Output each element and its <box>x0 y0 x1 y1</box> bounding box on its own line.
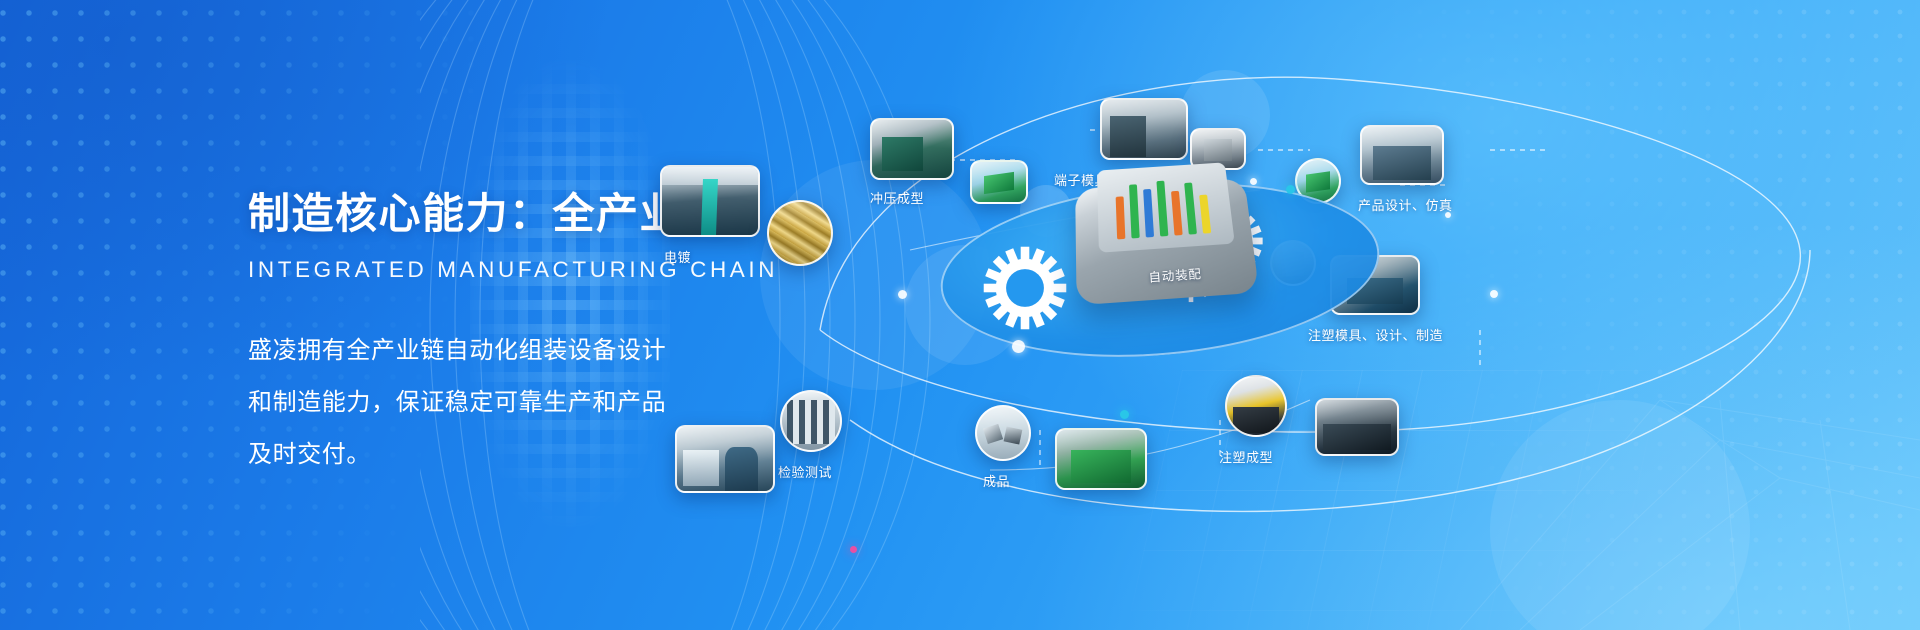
node-stamping[interactable]: 冲压成型 <box>870 118 954 180</box>
machine-components <box>1109 170 1223 240</box>
manufacturing-chain-diagram: 电镀 冲压成型 端子模具、设计、制造 产品设计、仿真 注塑模具、设计、制造 <box>790 0 1920 630</box>
node-finished-product-label: 成品 <box>983 471 1010 490</box>
plating-detail-icon <box>767 200 833 266</box>
path-marker <box>1012 340 1025 353</box>
assembly-machine: 自动装配 <box>1076 153 1258 313</box>
path-marker <box>1490 290 1498 298</box>
node-inspection-test-label: 检验测试 <box>778 462 832 481</box>
node-inspection-test[interactable]: 检验测试 <box>780 390 842 452</box>
node-plating-thumbnail <box>660 165 760 237</box>
node-plating-label: 电镀 <box>664 247 691 266</box>
node-stamping-label: 冲压成型 <box>870 188 924 207</box>
node-injection-forming[interactable]: 注塑成型 <box>1225 375 1287 437</box>
node-injection-forming-label: 注塑成型 <box>1219 447 1273 466</box>
path-marker-accent <box>850 546 857 553</box>
path-marker-accent <box>1120 410 1129 419</box>
node-product-design[interactable]: 产品设计、仿真 <box>1360 125 1444 185</box>
node-stamping-thumbnail <box>870 118 954 180</box>
node-product-design-thumbnail <box>1360 125 1444 185</box>
injection-forming-detail-icon <box>1315 398 1399 456</box>
center-assembly-stage: 自动装配 <box>940 185 1380 355</box>
path-marker-accent <box>1286 185 1295 194</box>
gear-icon <box>982 245 1068 331</box>
node-terminal-mold-thumbnail <box>1100 98 1188 160</box>
path-marker <box>1445 212 1451 218</box>
node-plating[interactable]: 电镀 <box>660 165 760 237</box>
inspection-test-detail-icon <box>675 425 775 493</box>
path-marker <box>1250 178 1257 185</box>
hero-description: 盛凌拥有全产业链自动化组装设备设计和制造能力，保证稳定可靠生产和产品及时交付。 <box>248 325 688 481</box>
node-injection-forming-thumbnail <box>1225 375 1287 437</box>
node-terminal-mold[interactable]: 端子模具、设计、制造 <box>1100 98 1188 160</box>
path-marker <box>898 290 907 299</box>
node-finished-product-thumbnail <box>975 405 1031 461</box>
finished-product-detail-icon <box>1055 428 1147 490</box>
node-finished-product[interactable]: 成品 <box>975 405 1031 461</box>
hero-banner: 制造核心能力：全产业链 INTEGRATED MANUFACTURING CHA… <box>0 0 1920 630</box>
node-inspection-test-thumbnail <box>780 390 842 452</box>
